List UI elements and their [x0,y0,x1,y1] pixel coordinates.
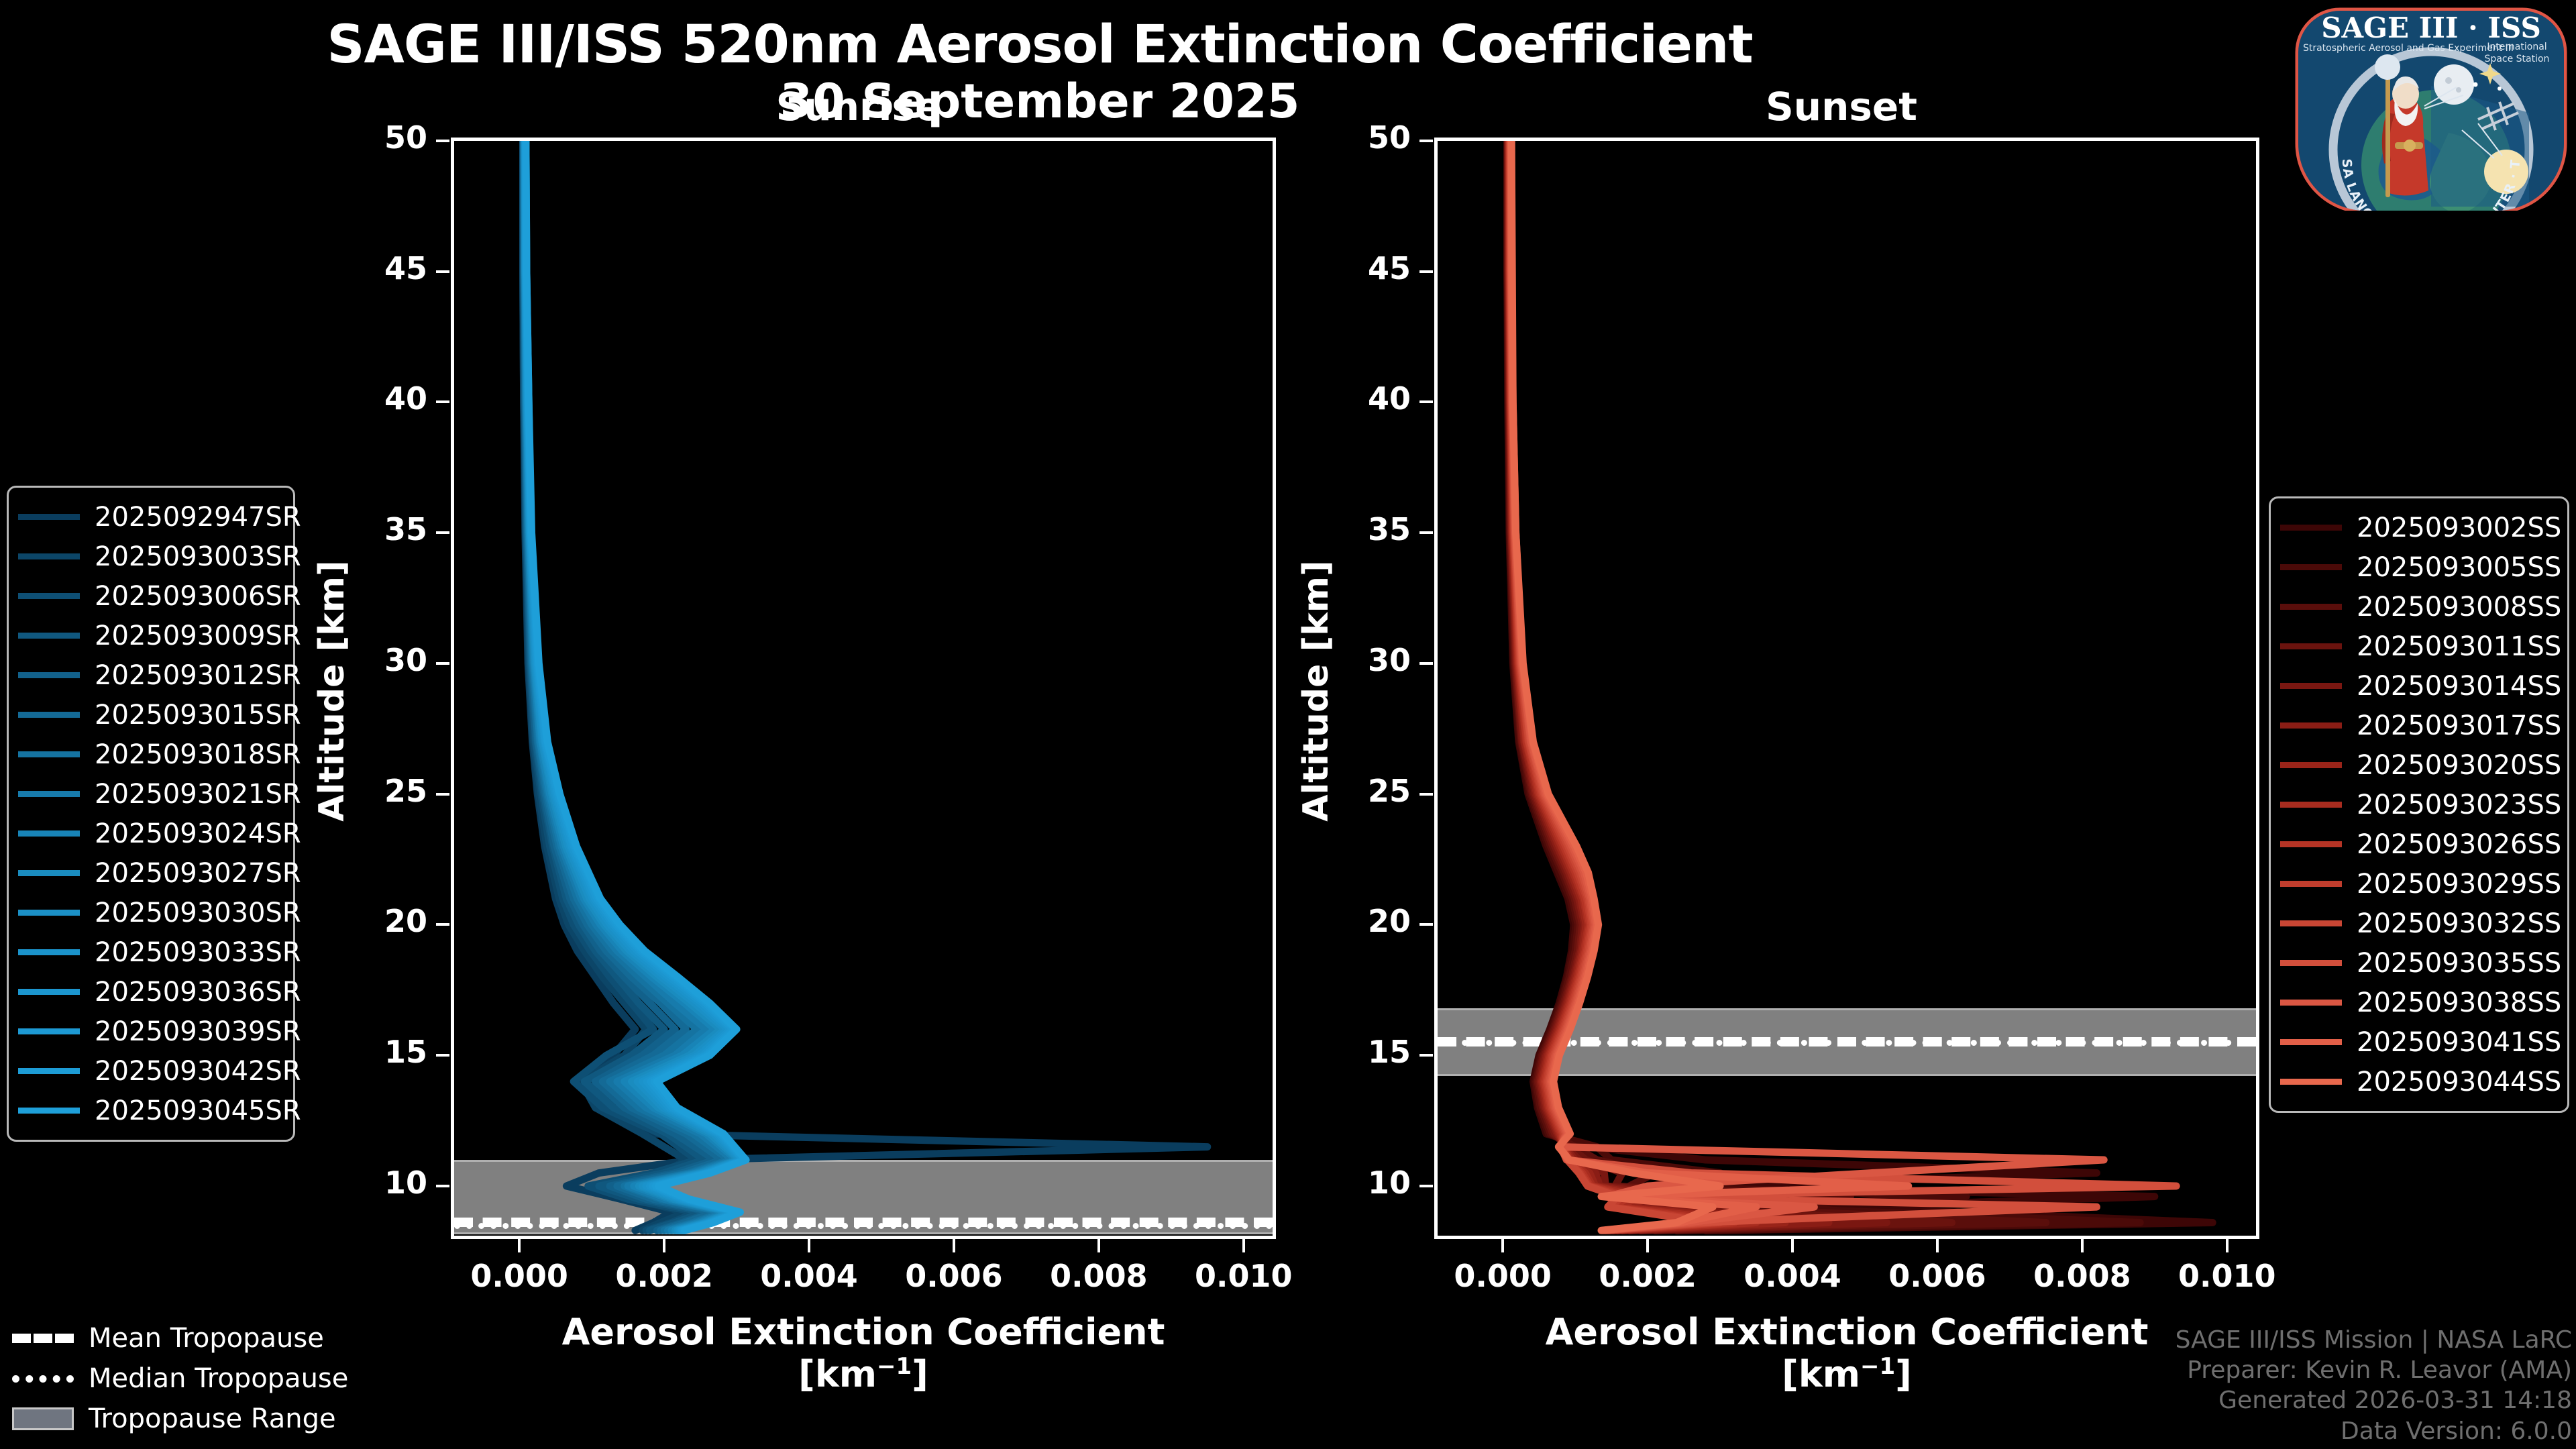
x-tick-mark [518,1239,521,1252]
tropopause-range-swatch-icon [12,1407,74,1430]
sunrise-legend-label: 2025093021SR [95,779,301,810]
y-tick-label: 35 [327,511,427,547]
sunset-legend-label: 2025093032SS [2357,908,2561,939]
sunrise-legend-label: 2025093030SR [95,898,301,928]
sunrise-legend-item[interactable]: 2025093045SR [18,1091,281,1130]
mean-tropopause-label: Mean Tropopause [89,1323,324,1354]
credit-line-preparer: Preparer: Kevin R. Leavor (AMA) [2176,1355,2572,1385]
y-tick-label: 15 [327,1034,427,1070]
sunset-extinction-curves [1438,141,2256,1236]
sunset-legend-swatch-icon [2280,1039,2342,1045]
sunrise-panel-caption: Sunrise [657,84,1060,129]
sunrise-legend-item[interactable]: 2025093015SR [18,695,281,735]
sunset-legend-item[interactable]: 2025093029SS [2280,864,2555,904]
sunset-legend-item[interactable]: 2025093011SS [2280,627,2555,666]
sunrise-legend-item[interactable]: 2025093009SR [18,616,281,655]
sunrise-legend-label: 2025093015SR [95,700,301,731]
extinction-profile-line [1508,141,1952,1230]
sunset-x-axis-title-text: Aerosol Extinction Coefficient [1546,1311,2149,1353]
sunset-panel-caption: Sunset [1640,84,2043,129]
y-tick-mark [1419,1054,1433,1057]
y-tick-label: 35 [1310,511,1411,547]
credits-block: SAGE III/ISS Mission | NASA LaRC Prepare… [2176,1325,2572,1446]
sunset-legend-swatch-icon [2280,722,2342,729]
x-tick-mark [1097,1239,1100,1252]
y-tick-label: 20 [1310,903,1411,939]
sunrise-legend-swatch-icon [18,514,80,520]
sunset-legend-swatch-icon [2280,762,2342,768]
sunrise-legend-swatch-icon [18,672,80,678]
sunset-legend-item[interactable]: 2025093044SS [2280,1062,2555,1102]
x-tick-label: 0.006 [880,1258,1028,1294]
sunrise-legend-swatch-icon [18,830,80,837]
sunrise-plot-area [451,138,1276,1239]
sunset-legend-swatch-icon [2280,841,2342,847]
sunset-legend-item[interactable]: 2025093017SS [2280,706,2555,745]
x-tick-label: 0.010 [2153,1258,2301,1294]
sunset-legend-swatch-icon [2280,643,2342,649]
y-tick-mark [436,1054,449,1057]
y-tick-mark [436,923,449,926]
y-tick-mark [1419,531,1433,534]
x-tick-label: 0.006 [1864,1258,2011,1294]
mean-tropopause-dash-icon [12,1334,74,1343]
y-tick-mark [1419,923,1433,926]
credit-line-generated: Generated 2026-03-31 14:18 [2176,1385,2572,1415]
sunrise-legend-label: 2025093042SR [95,1056,301,1087]
sunset-legend-label: 2025093017SS [2357,710,2561,741]
sunset-legend[interactable]: 2025093002SS2025093005SS2025093008SS2025… [2269,496,2569,1113]
sunrise-legend-label: 2025093003SR [95,541,301,572]
y-tick-label: 10 [327,1165,427,1201]
sunrise-legend-label: 2025093006SR [95,581,301,612]
y-tick-mark [436,662,449,665]
sunrise-legend-swatch-icon [18,712,80,718]
figure-canvas: SAGE III/ISS 520nm Aerosol Extinction Co… [0,0,2576,1449]
sunset-legend-item[interactable]: 2025093035SS [2280,943,2555,983]
sunrise-legend-item[interactable]: 2025093036SR [18,972,281,1012]
extinction-profile-line [1511,141,2104,1230]
median-tropopause-label: Median Tropopause [89,1363,348,1394]
sunset-plot-area [1434,138,2259,1239]
x-tick-mark [1791,1239,1794,1252]
sunset-legend-label: 2025093038SS [2357,987,2561,1018]
x-tick-mark [953,1239,955,1252]
sunrise-y-axis-title: Altitude [km] [312,557,352,825]
logo-moon-crater [2445,77,2452,84]
sunset-legend-label: 2025093035SS [2357,948,2561,979]
sunrise-legend-label: 2025093012SR [95,660,301,691]
sunset-legend-swatch-icon [2280,881,2342,887]
sunrise-legend-label: 2025093045SR [95,1095,301,1126]
sunrise-extinction-curves [454,141,1273,1236]
sunrise-legend-label: 2025093018SR [95,739,301,770]
x-tick-mark [663,1239,665,1252]
logo-figure-staff [2385,70,2390,197]
y-tick-label: 50 [327,119,427,156]
sunset-legend-item[interactable]: 2025093002SS [2280,508,2555,547]
x-tick-mark [1242,1239,1245,1252]
sunrise-legend-label: 2025093036SR [95,977,301,1008]
sage-iii-iss-mission-patch-logo: BALL · NASA LANGLEY RESEARCH CENTER · TA… [2293,5,2569,211]
sunrise-legend-label: 2025092947SR [95,502,301,533]
logo-star-small-2 [2498,87,2502,91]
y-tick-label: 40 [1310,380,1411,417]
logo-figure-orb [2375,54,2400,80]
sunrise-legend-item[interactable]: 2025093018SR [18,735,281,774]
sunrise-legend-swatch-icon [18,1028,80,1034]
sunset-legend-swatch-icon [2280,920,2342,926]
logo-star-small [2473,83,2478,87]
y-tick-label: 50 [1310,119,1411,156]
sunrise-legend[interactable]: 2025092947SR2025093003SR2025093006SR2025… [7,486,295,1142]
sunset-legend-label: 2025093008SS [2357,592,2561,623]
credit-line-dataversion: Data Version: 6.0.0 [2176,1416,2572,1446]
x-tick-mark [2226,1239,2229,1252]
sunset-legend-item[interactable]: 2025093023SS [2280,785,2555,824]
y-tick-mark [1419,400,1433,403]
sunrise-legend-swatch-icon [18,949,80,955]
x-tick-label: 0.000 [1429,1258,1576,1294]
extinction-profile-line [1507,141,2141,1230]
tropopause-range-label: Tropopause Range [89,1403,336,1434]
sunset-legend-label: 2025093041SS [2357,1027,2561,1058]
sunrise-legend-item[interactable]: 2025093012SR [18,655,281,695]
sunset-legend-swatch-icon [2280,802,2342,808]
y-tick-mark [1419,662,1433,665]
logo-subtitle-1: Stratospheric Aerosol and Gas Experiment… [2303,43,2514,54]
sunset-legend-swatch-icon [2280,960,2342,966]
sunrise-legend-item[interactable]: 2025093033SR [18,932,281,972]
sunrise-legend-swatch-icon [18,553,80,559]
sunrise-legend-item[interactable]: 2025093027SR [18,853,281,893]
y-tick-mark [436,793,449,796]
y-tick-mark [1419,1185,1433,1187]
sunrise-legend-item[interactable]: 2025092947SR [18,497,281,537]
sunset-legend-swatch-icon [2280,1000,2342,1006]
tropopause-legend-mean-row: Mean Tropopause [12,1318,348,1358]
y-tick-label: 20 [327,903,427,939]
median-tropopause-dot-icon [12,1375,74,1383]
x-tick-mark [2081,1239,2084,1252]
logo-subtitle-2b: Space Station [2485,54,2550,64]
sunrise-legend-swatch-icon [18,791,80,797]
sunrise-legend-swatch-icon [18,910,80,916]
sunrise-legend-item[interactable]: 2025093042SR [18,1051,281,1091]
extinction-profile-line [1508,141,1887,1230]
sunrise-legend-swatch-icon [18,751,80,757]
x-tick-label: 0.002 [1574,1258,1721,1294]
logo-title: SAGE III · ISS [2321,11,2541,44]
sunset-legend-label: 2025093023SS [2357,790,2561,820]
logo-moon-crater-2 [2456,87,2461,93]
sunset-x-axis-title: Aerosol Extinction Coefficient [km−1] [1434,1311,2259,1395]
sunrise-legend-label: 2025093039SR [95,1016,301,1047]
sunset-legend-item[interactable]: 2025093020SS [2280,745,2555,785]
sunrise-legend-item[interactable]: 2025093024SR [18,814,281,853]
sunset-y-axis-title: Altitude [km] [1296,557,1336,825]
x-tick-mark [1646,1239,1649,1252]
y-tick-mark [436,140,449,142]
sunset-legend-swatch-icon [2280,604,2342,610]
sunset-legend-label: 2025093029SS [2357,869,2561,900]
extinction-profile-line [1511,141,2176,1230]
sunrise-legend-item[interactable]: 2025093030SR [18,893,281,932]
sunrise-legend-item[interactable]: 2025093003SR [18,537,281,576]
credit-line-mission: SAGE III/ISS Mission | NASA LaRC [2176,1325,2572,1355]
x-tick-mark [808,1239,810,1252]
sunset-legend-swatch-icon [2280,1079,2342,1085]
sunrise-legend-label: 2025093024SR [95,818,301,849]
x-tick-label: 0.008 [1025,1258,1173,1294]
sunset-legend-item[interactable]: 2025093014SS [2280,666,2555,706]
sunset-legend-swatch-icon [2280,525,2342,531]
sunset-legend-label: 2025093044SS [2357,1067,2561,1097]
sunrise-x-axis-title: Aerosol Extinction Coefficient [km−1] [451,1311,1276,1395]
sunrise-legend-swatch-icon [18,870,80,876]
figure-title: SAGE III/ISS 520nm Aerosol Extinction Co… [0,15,2080,75]
sunset-legend-item[interactable]: 2025093026SS [2280,824,2555,864]
sunset-legend-item[interactable]: 2025093041SS [2280,1022,2555,1062]
sunset-x-axis-unit: [km−1] [1782,1353,1912,1395]
sunset-legend-item[interactable]: 2025093008SS [2280,587,2555,627]
y-tick-mark [1419,140,1433,142]
x-tick-label: 0.004 [735,1258,883,1294]
x-tick-mark [1501,1239,1504,1252]
x-tick-label: 0.010 [1170,1258,1318,1294]
sunrise-legend-swatch-icon [18,593,80,599]
sunset-legend-label: 2025093005SS [2357,552,2561,583]
y-tick-label: 10 [1310,1165,1411,1201]
sunrise-legend-item[interactable]: 2025093039SR [18,1012,281,1051]
y-tick-label: 45 [1310,250,1411,286]
y-tick-label: 40 [327,380,427,417]
sunrise-legend-swatch-icon [18,1068,80,1074]
sunset-legend-label: 2025093014SS [2357,671,2561,702]
y-tick-mark [436,270,449,273]
y-tick-mark [1419,270,1433,273]
extinction-profile-line [1507,141,2213,1230]
x-tick-label: 0.004 [1719,1258,1866,1294]
logo-subtitle-2a: International [2487,42,2546,52]
sunset-legend-swatch-icon [2280,564,2342,570]
sunrise-x-axis-title-text: Aerosol Extinction Coefficient [562,1311,1165,1353]
y-tick-mark [436,1185,449,1187]
y-tick-mark [1419,793,1433,796]
x-tick-mark [1936,1239,1939,1252]
x-tick-label: 0.000 [445,1258,593,1294]
sunset-legend-label: 2025093026SS [2357,829,2561,860]
y-tick-label: 15 [1310,1034,1411,1070]
extinction-profile-line [1511,141,1909,1230]
sunrise-legend-item[interactable]: 2025093021SR [18,774,281,814]
y-tick-label: 45 [327,250,427,286]
sunrise-legend-item[interactable]: 2025093006SR [18,576,281,616]
x-tick-label: 0.008 [2008,1258,2156,1294]
sunset-legend-label: 2025093002SS [2357,513,2561,543]
tropopause-legend-median-row: Median Tropopause [12,1358,348,1399]
sunset-legend-item[interactable]: 2025093032SS [2280,904,2555,943]
tropopause-legend: Mean Tropopause Median Tropopause Tropop… [12,1318,348,1439]
sunrise-legend-label: 2025093033SR [95,937,301,968]
y-tick-mark [436,531,449,534]
sunrise-x-axis-unit: [km−1] [798,1353,928,1395]
sunset-legend-label: 2025093011SS [2357,631,2561,662]
sunset-legend-item[interactable]: 2025093038SS [2280,983,2555,1022]
sunrise-legend-label: 2025093027SR [95,858,301,889]
sunset-legend-label: 2025093020SS [2357,750,2561,781]
extinction-profile-line [1508,141,2046,1230]
sunset-legend-swatch-icon [2280,683,2342,689]
y-tick-mark [436,400,449,403]
sunrise-legend-label: 2025093009SR [95,621,301,651]
sunset-legend-item[interactable]: 2025093005SS [2280,547,2555,587]
sunrise-legend-swatch-icon [18,1108,80,1114]
tropopause-legend-range-row: Tropopause Range [12,1399,348,1439]
sunrise-legend-swatch-icon [18,989,80,995]
x-tick-label: 0.002 [590,1258,738,1294]
sunrise-legend-swatch-icon [18,633,80,639]
